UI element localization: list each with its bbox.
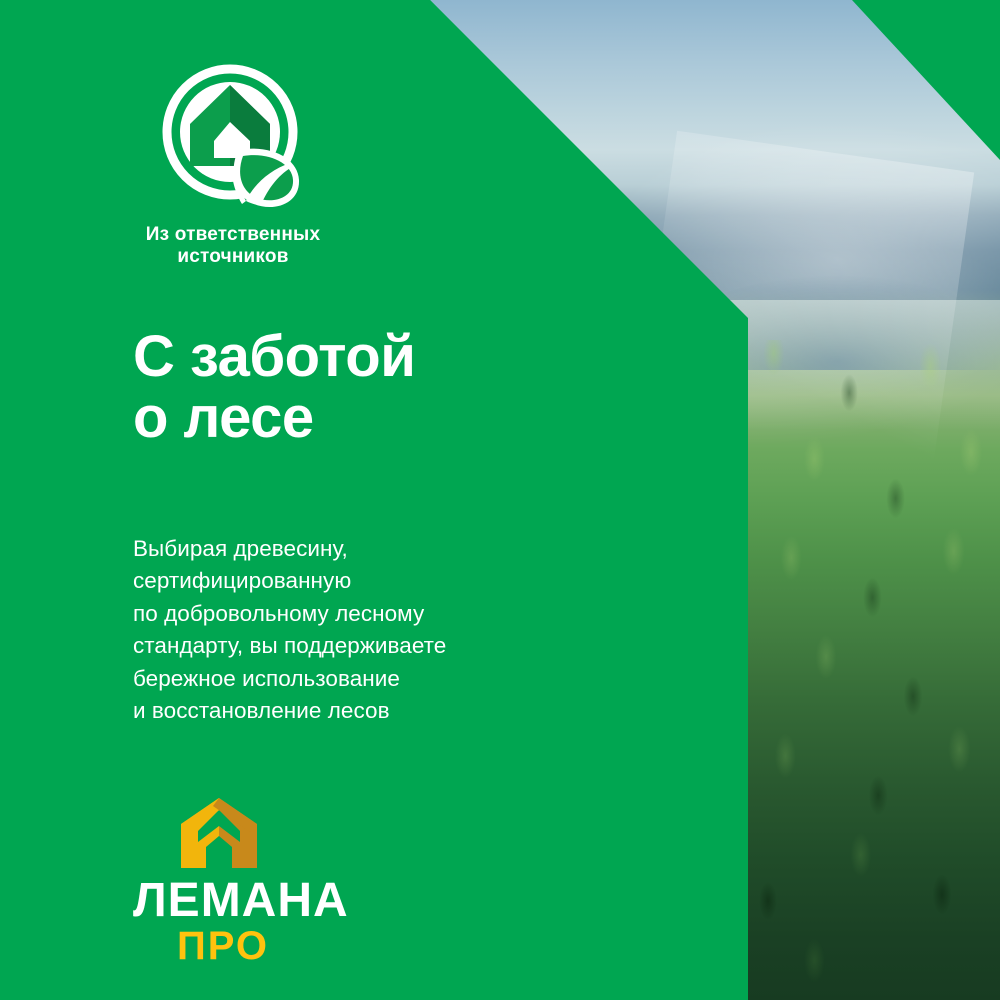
page-title: С заботой о лесе — [133, 326, 653, 449]
body-paragraph: Выбирая древесину, сертифицированную по … — [133, 533, 653, 727]
poster-canvas: Из ответственных источников С заботой о … — [0, 0, 1000, 1000]
lemana-pro-house-icon — [178, 796, 260, 870]
certification-caption: Из ответственных источников — [133, 224, 333, 269]
certification-mark: Из ответственных источников — [133, 62, 333, 269]
brand-lockup: ЛЕМАНА ПРО — [133, 796, 373, 966]
house-with-leaf-in-circle-icon — [158, 62, 308, 212]
brand-name: ЛЕМАНА — [133, 878, 373, 924]
content-column: Из ответственных источников С заботой о … — [0, 0, 700, 1000]
brand-suffix: ПРО — [133, 926, 373, 966]
